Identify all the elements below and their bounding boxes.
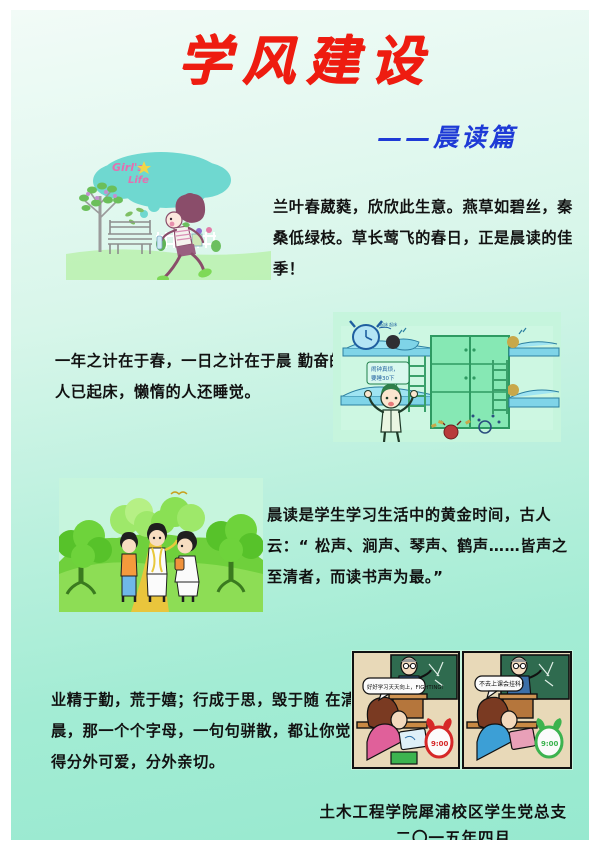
page-title: 学风建设	[11, 32, 589, 90]
illustration-girl-running-park: Girl's Life	[66, 148, 271, 280]
paragraph-proverb: 一年之计在于春，一日之计在于晨 勤奋的人已起床，懒惰的人还睡觉。	[55, 346, 355, 408]
signature-date: 二〇一五年四月	[395, 826, 511, 840]
svg-text:起床 起床: 起床 起床	[380, 321, 397, 327]
page-subtitle: ——晨读篇	[377, 118, 517, 154]
svg-text:要睡30下: 要睡30下	[371, 374, 395, 382]
illustration-students-walking-path	[59, 478, 263, 612]
paragraph-golden-time: 晨读是学生学习生活中的黄金时间，古人云：“ 松声、涧声、琴声、鹤声……皆声之至清…	[267, 500, 573, 593]
svg-text:9:00: 9:00	[541, 740, 559, 748]
notebook-right	[509, 728, 536, 750]
svg-text:好好学习天天向上，FIGHTING!: 好好学习天天向上，FIGHTING!	[367, 683, 444, 691]
svg-text:闹钟真烦，: 闹钟真烦，	[371, 365, 399, 373]
notebook-left	[399, 728, 427, 749]
svg-text:Life: Life	[128, 175, 149, 186]
illustration-classroom-comic: 好好学习天天向上，FIGHTING! 9:00	[351, 650, 573, 770]
comic-panel-left: 好好学习天天向上，FIGHTING! 9:00	[353, 652, 459, 768]
illustration-dormitory-morning: 起床 起床	[333, 312, 561, 442]
svg-text:不去上课会挂科!: 不去上课会挂科!	[479, 680, 523, 688]
comic-panel-right: 不去上课会挂科! 9:00	[463, 652, 571, 768]
signature-organization: 土木工程学院犀浦校区学生党总支	[319, 800, 567, 822]
paragraph-intro: 兰叶春葳蕤，欣欣此生意。燕草如碧丝，秦桑低绿枝。草长莺飞的春日，正是晨读的佳季！	[273, 192, 573, 285]
bench-shape	[108, 220, 152, 254]
wardrobe-shape	[431, 336, 509, 428]
svg-text:9:00: 9:00	[431, 740, 449, 748]
student-figure-left	[120, 532, 138, 602]
paragraph-diligence: 业精于勤，荒于嬉；行成于思，毁于随 在清晨，那一个个字母，一句句骈散，都让你觉得…	[51, 685, 361, 778]
poster-page: 学风建设 ——晨读篇 Girl's Life	[0, 0, 600, 849]
poster-canvas: 学风建设 ——晨读篇 Girl's Life	[11, 10, 589, 840]
student-figure-right	[175, 531, 199, 602]
